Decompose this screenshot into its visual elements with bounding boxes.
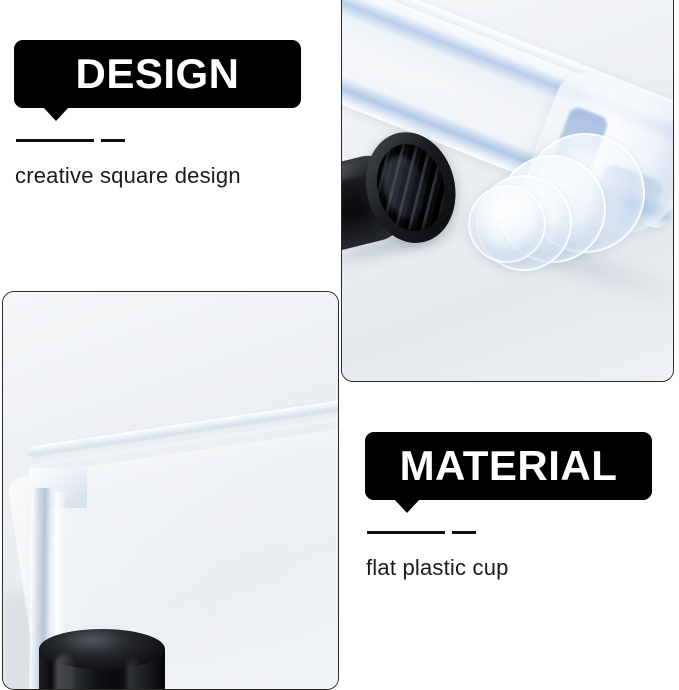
photo-scene-bottle-upright <box>3 292 338 689</box>
divider-long-rule <box>16 139 94 142</box>
design-caption: creative square design <box>15 163 241 189</box>
black-screw-cap-closed <box>39 629 165 689</box>
badge-pointer-triangle <box>43 107 69 121</box>
divider-short-dash <box>101 139 125 142</box>
feature-callout-material: MATERIAL flat plastic cup <box>0 0 287 68</box>
material-divider <box>367 531 476 534</box>
cap-gloss-highlight-right <box>127 659 141 689</box>
material-badge-label: MATERIAL <box>400 445 618 487</box>
product-photo-top-right <box>341 0 674 382</box>
material-caption: flat plastic cup <box>366 555 509 581</box>
divider-short-dash <box>452 531 476 534</box>
design-divider <box>16 139 125 142</box>
divider-long-rule <box>367 531 445 534</box>
badge-pointer-triangle <box>394 499 420 513</box>
material-badge: MATERIAL <box>365 432 652 500</box>
photo-scene-bottle-lying <box>342 0 673 381</box>
cap-gloss-highlight-left <box>55 655 75 689</box>
product-photo-bottom-left <box>2 291 339 690</box>
